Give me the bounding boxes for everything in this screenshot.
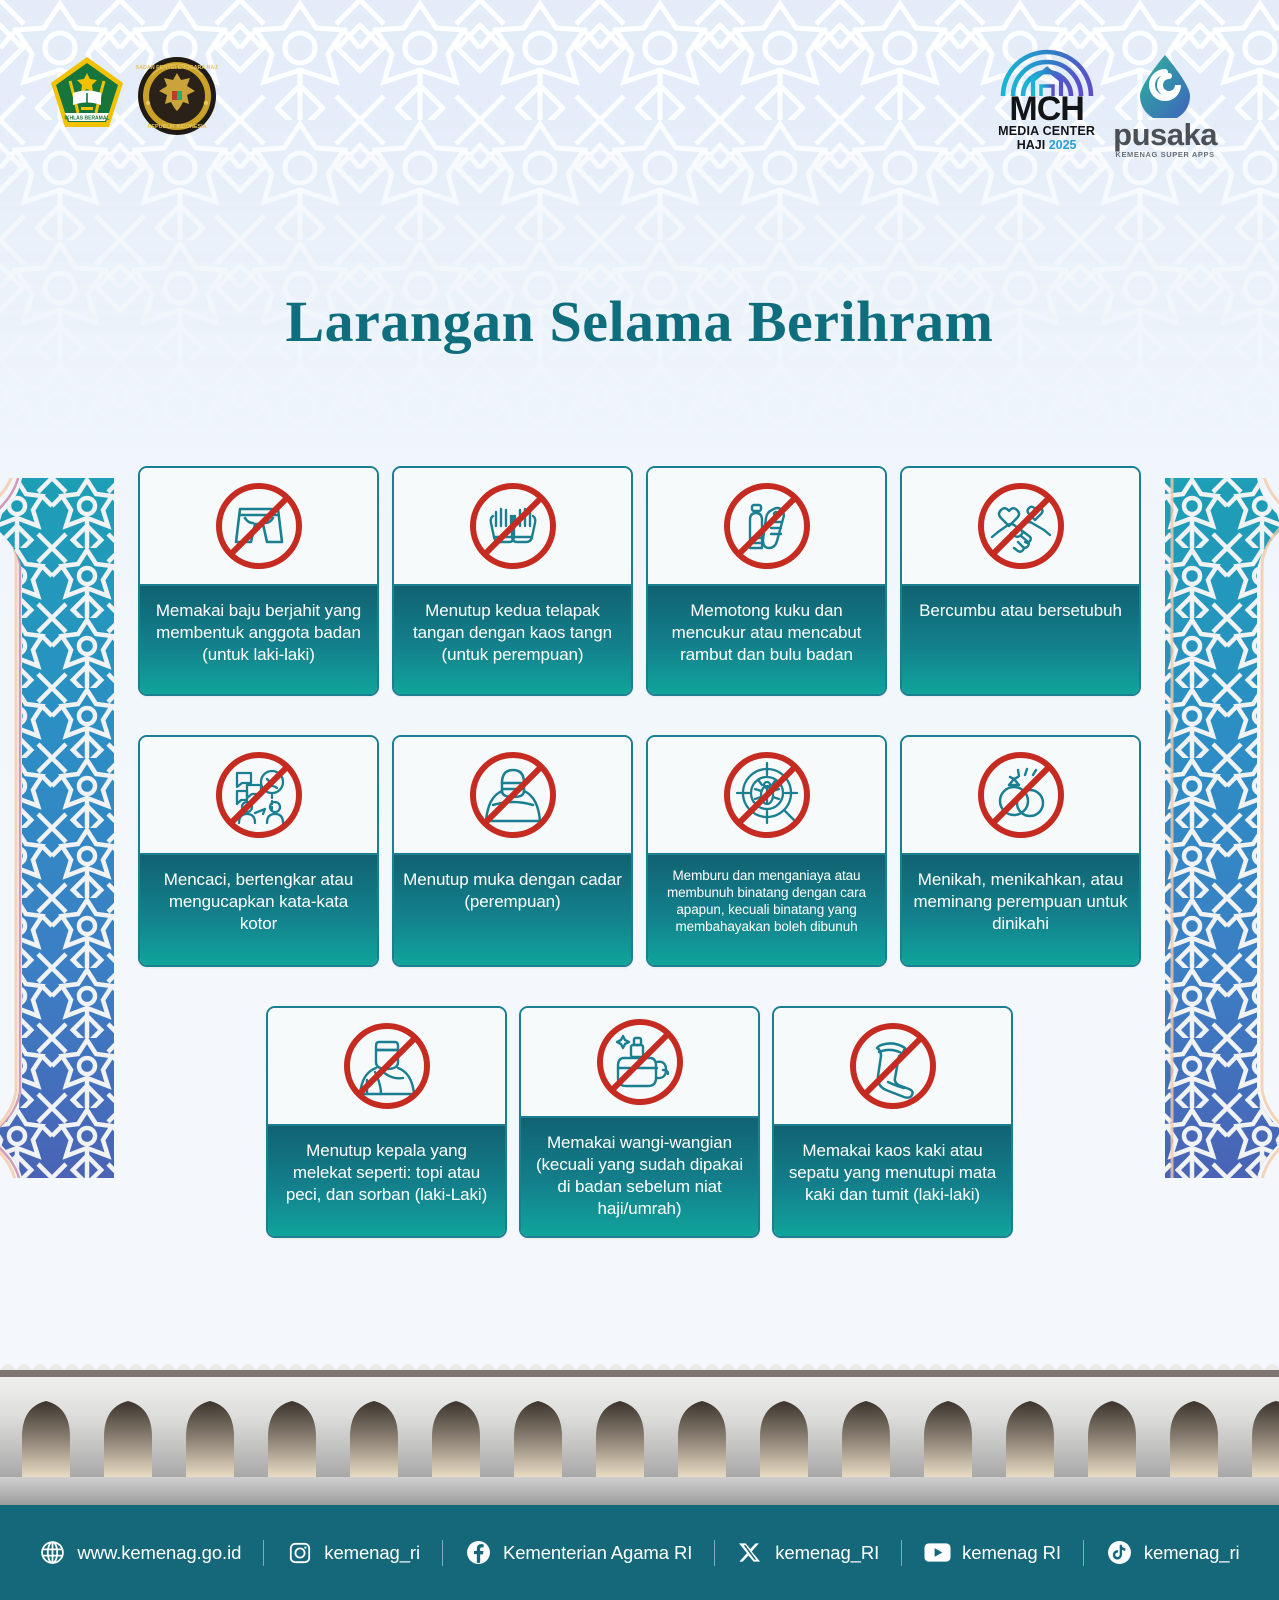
card-icon-area: [648, 468, 885, 586]
mch-logo: MCH MEDIA CENTER HAJI 2025: [998, 48, 1095, 152]
youtube-icon: [924, 1539, 951, 1566]
card-label: Memotong kuku dan mencukur atau mencabut…: [648, 586, 885, 694]
head-covering-man-icon: [337, 1016, 437, 1116]
footer-label-x: kemenag_RI: [775, 1542, 879, 1564]
prohibition-card[interactable]: Memakai baju berjahit yang membentuk ang…: [138, 466, 379, 696]
logo-group-right: MCH MEDIA CENTER HAJI 2025 pusaka KEMENA…: [998, 48, 1217, 159]
card-icon-area: [902, 468, 1139, 586]
pusaka-wordmark: pusaka: [1113, 120, 1217, 150]
header-logo-row: IKHLAS BERAMAL BADAN PENYELENGGARA HAJI …: [0, 0, 1279, 180]
mch-arch-icon: [999, 48, 1095, 96]
footer-item-youtube[interactable]: kemenag RI: [902, 1539, 1083, 1566]
card-icon-area: [140, 737, 377, 855]
mch-subtitle-line1: MEDIA CENTER: [998, 124, 1095, 138]
card-icon-area: [521, 1008, 758, 1118]
card-icon-area: [394, 737, 631, 855]
prohibition-card[interactable]: Memburu dan menganiaya atau membunuh bin…: [646, 735, 887, 967]
prohibition-card[interactable]: Menutup kepala yang melekat seperti: top…: [266, 1006, 507, 1238]
card-icon-area: [394, 468, 631, 586]
prohibition-card[interactable]: Menutup muka dengan cadar (perempuan): [392, 735, 633, 967]
handshake-heart-icon: [971, 476, 1071, 576]
svg-text:BADAN PENYELENGGARA HAJI: BADAN PENYELENGGARA HAJI: [136, 65, 218, 71]
card-icon-area: [140, 468, 377, 586]
pusaka-droplet-icon: [1134, 52, 1196, 118]
prohibition-card[interactable]: Menutup kedua telapak tangan dengan kaos…: [392, 466, 633, 696]
shorts-icon: [209, 476, 309, 576]
pusaka-tagline: KEMENAG SUPER APPS: [1115, 150, 1214, 159]
card-icon-area: [648, 737, 885, 855]
nail-clipper-razor-icon: [717, 476, 817, 576]
globe-icon: [39, 1539, 66, 1566]
prohibition-card[interactable]: Memotong kuku dan mencukur atau mencabut…: [646, 466, 887, 696]
wedding-rings-icon: [971, 745, 1071, 845]
kemenag-logo: IKHLAS BERAMAL: [48, 55, 126, 137]
prohibition-card[interactable]: Bercumbu atau bersetubuh: [900, 466, 1141, 696]
mch-haji-label: HAJI: [1017, 138, 1045, 152]
prohibition-card[interactable]: Menikah, menikahkan, atau meminang perem…: [900, 735, 1141, 967]
prohibition-card[interactable]: Memakai wangi-wangian (kecuali yang suda…: [519, 1006, 760, 1238]
footer-label-tiktok: kemenag_ri: [1144, 1542, 1240, 1564]
niqab-face-veil-icon: [463, 745, 563, 845]
perfume-bottle-icon: [590, 1012, 690, 1112]
footer-label-youtube: kemenag RI: [962, 1542, 1061, 1564]
mosque-arcade-decoration: [0, 1360, 1279, 1505]
footer-label-website: www.kemenag.go.id: [77, 1542, 241, 1564]
svg-text:IKHLAS BERAMAL: IKHLAS BERAMAL: [65, 116, 110, 122]
mch-acronym: MCH: [1009, 94, 1083, 124]
footer-label-instagram: kemenag_ri: [324, 1542, 420, 1564]
card-icon-area: [902, 737, 1139, 855]
footer-item-tiktok[interactable]: kemenag_ri: [1084, 1539, 1262, 1566]
card-label: Memakai kaos kaki atau sepatu yang menut…: [774, 1126, 1011, 1236]
prohibitions-row-2: Mencaci, bertengkar atau mengucapkan kat…: [0, 735, 1279, 967]
svg-text:REPUBLIK INDONESIA: REPUBLIK INDONESIA: [147, 124, 206, 130]
bph-logo: BADAN PENYELENGGARA HAJI REPUBLIK INDONE…: [136, 55, 218, 137]
card-label: Menutup kepala yang melekat seperti: top…: [268, 1126, 505, 1236]
prohibitions-row-3: Menutup kepala yang melekat seperti: top…: [0, 1006, 1279, 1238]
logo-group-left: IKHLAS BERAMAL BADAN PENYELENGGARA HAJI …: [48, 55, 218, 137]
card-label: Menutup muka dengan cadar (perempuan): [394, 855, 631, 965]
pusaka-logo: pusaka KEMENAG SUPER APPS: [1113, 52, 1217, 159]
prohibition-card[interactable]: Mencaci, bertengkar atau mengucapkan kat…: [138, 735, 379, 967]
prohibition-card[interactable]: Memakai kaos kaki atau sepatu yang menut…: [772, 1006, 1013, 1238]
card-label: Menikah, menikahkan, atau meminang perem…: [902, 855, 1139, 965]
card-icon-area: [774, 1008, 1011, 1126]
sock-icon: [843, 1016, 943, 1116]
card-label: Bercumbu atau bersetubuh: [902, 586, 1139, 694]
facebook-icon: [465, 1539, 492, 1566]
page-title: Larangan Selama Berihram: [0, 288, 1279, 355]
card-label: Memakai wangi-wangian (kecuali yang suda…: [521, 1118, 758, 1236]
mch-subtitle-line2: HAJI 2025: [1017, 138, 1077, 152]
gloves-icon: [463, 476, 563, 576]
prohibitions-row-1: Memakai baju berjahit yang membentuk ang…: [0, 466, 1279, 696]
instagram-icon: [286, 1539, 313, 1566]
argument-speech-icon: [209, 745, 309, 845]
footer-label-facebook: Kementerian Agama RI: [503, 1542, 692, 1564]
mch-year: 2025: [1049, 138, 1077, 152]
tiktok-icon: [1106, 1539, 1133, 1566]
card-label: Menutup kedua telapak tangan dengan kaos…: [394, 586, 631, 694]
footer-item-x[interactable]: kemenag_RI: [715, 1539, 901, 1566]
card-label: Memburu dan menganiaya atau membunuh bin…: [648, 855, 885, 965]
footer-bar: www.kemenag.go.id kemenag_ri Kementerian…: [0, 1505, 1279, 1600]
card-icon-area: [268, 1008, 505, 1126]
hunting-target-insect-icon: [717, 745, 817, 845]
footer-item-instagram[interactable]: kemenag_ri: [264, 1539, 442, 1566]
footer-item-website[interactable]: www.kemenag.go.id: [17, 1539, 263, 1566]
x-twitter-icon: [737, 1539, 764, 1566]
prohibitions-grid: Memakai baju berjahit yang membentuk ang…: [0, 466, 1279, 1277]
card-label: Mencaci, bertengkar atau mengucapkan kat…: [140, 855, 377, 965]
footer-item-facebook[interactable]: Kementerian Agama RI: [443, 1539, 714, 1566]
card-label: Memakai baju berjahit yang membentuk ang…: [140, 586, 377, 694]
